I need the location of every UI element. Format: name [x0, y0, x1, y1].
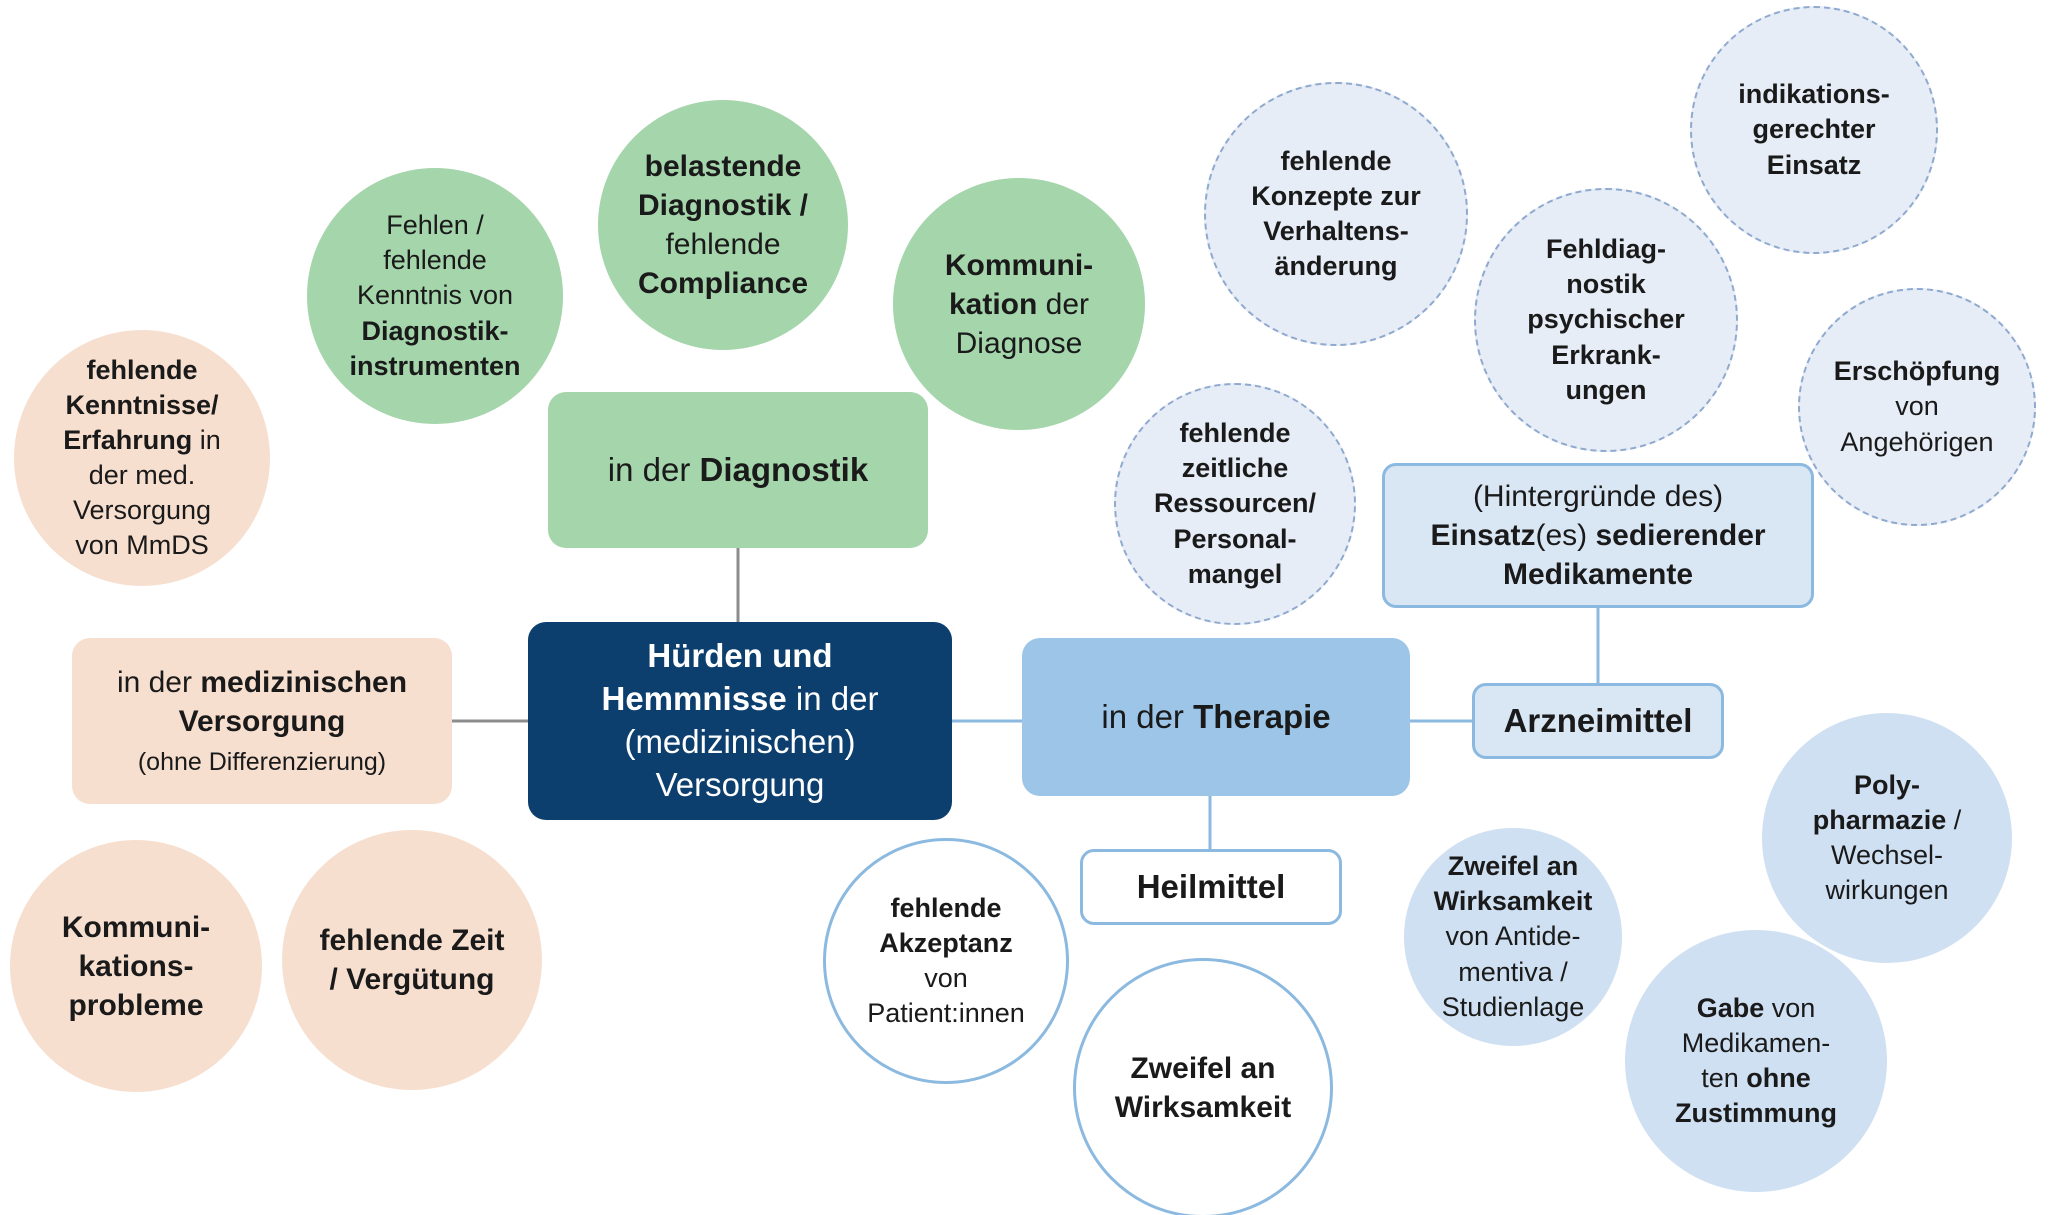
dashed4-line-2: Ressourcen/: [1154, 488, 1316, 518]
zeit-verguetung-line-0: fehlende Zeit: [319, 924, 504, 957]
diagnostik-bold: Diagnostik: [700, 451, 869, 488]
versorgung-prefix: in der: [117, 666, 200, 699]
green2-line-0: Kommuni-: [945, 249, 1093, 282]
blue2-line-0: Gabe: [1697, 993, 1765, 1023]
dashed2-line-4: ungen: [1566, 375, 1647, 405]
peach-line-2-suffix: in: [192, 425, 221, 455]
medbox-line-1: (Hintergründe des): [1473, 480, 1723, 513]
dashed0-line-2: Verhaltens-: [1263, 216, 1409, 246]
diagnostik-prefix: in der: [608, 451, 700, 488]
node-fehlende-akzeptanz-patientinnen[interactable]: fehlende Akzeptanz von Patient:innen: [823, 838, 1069, 1084]
core-line-4: Versorgung: [656, 766, 825, 803]
dashed2-line-0: Fehldiag-: [1546, 234, 1666, 264]
node-fehlende-zeit-verguetung[interactable]: fehlende Zeit / Vergütung: [282, 830, 542, 1090]
dashed3-line-1: von: [1895, 391, 1939, 421]
dashed2-line-3: Erkrank-: [1551, 340, 1661, 370]
blue2-line-0-suffix: von: [1764, 993, 1815, 1023]
blue1-line-0: Poly-: [1854, 770, 1920, 800]
node-fehldiagnostik-psychischer-erkrankungen[interactable]: Fehldiag- nostik psychischer Erkrank- un…: [1474, 188, 1738, 452]
node-fehlende-konzepte-verhaltensaenderung[interactable]: fehlende Konzepte zur Verhaltens- änderu…: [1204, 82, 1468, 346]
green2-line-1: kation: [949, 288, 1037, 321]
core-line-1: Hürden und: [647, 637, 832, 674]
green1-line-3: Compliance: [638, 267, 808, 300]
medbox-line-2-plain: (es): [1535, 519, 1587, 552]
node-kommunikationsprobleme[interactable]: Kommuni- kations- probleme: [10, 840, 262, 1092]
peach-line-5: von MmDS: [75, 530, 209, 560]
node-zweifel-wirksamkeit-antidementiva[interactable]: Zweifel an Wirksamkeit von Antide- menti…: [1404, 828, 1622, 1046]
dashed0-line-3: änderung: [1274, 251, 1397, 281]
kommunikationsprobleme-line-2: probleme: [68, 989, 203, 1022]
blue2-line-1: Medikamen-: [1682, 1028, 1831, 1058]
blue1-line-2: Wechsel-: [1831, 840, 1943, 870]
dashed4-line-4: mangel: [1188, 559, 1283, 589]
medbox-line-2-bold-b: sedierender: [1587, 519, 1765, 552]
branch-medizinische-versorgung[interactable]: in der medizinischen Versorgung (ohne Di…: [72, 638, 452, 804]
outline1-line-1: Wirksamkeit: [1115, 1091, 1291, 1124]
dashed4-line-3: Personal-: [1173, 524, 1296, 554]
medbox-line-3: Medikamente: [1503, 558, 1693, 591]
blue2-line-3: Zustimmung: [1675, 1098, 1837, 1128]
blue1-line-1: pharmazie: [1813, 805, 1947, 835]
node-gabe-medikamente-ohne-zustimmung[interactable]: Gabe von Medikamen- ten ohne Zustimmung: [1625, 930, 1887, 1192]
green2-line-1-suffix: der: [1037, 288, 1089, 321]
node-erschoepfung-von-angehoerigen[interactable]: Erschöpfung von Angehörigen: [1798, 288, 2036, 526]
node-arzneimittel[interactable]: Arzneimittel: [1472, 683, 1724, 759]
dashed1-line-0: indikations-: [1738, 79, 1890, 109]
kommunikationsprobleme-line-0: Kommuni-: [62, 911, 210, 944]
outline0-line-2: von: [924, 963, 968, 993]
dashed4-line-0: fehlende: [1179, 418, 1290, 448]
blue1-line-3: wirkungen: [1825, 875, 1948, 905]
node-zweifel-an-wirksamkeit[interactable]: Zweifel an Wirksamkeit: [1073, 958, 1333, 1215]
kommunikationsprobleme-line-1: kations-: [78, 950, 193, 983]
blue0-line-4: Studienlage: [1442, 992, 1585, 1022]
dashed0-line-0: fehlende: [1280, 146, 1391, 176]
dashed3-line-0: Erschöpfung: [1834, 356, 2001, 386]
green0-line-3: Diagnostik-: [361, 316, 508, 346]
core-line-2-rest: in der: [787, 680, 879, 717]
node-fehlen-kenntnis-diagnostikinstrumenten[interactable]: Fehlen / fehlende Kenntnis von Diagnosti…: [307, 168, 563, 424]
green0-line-2: Kenntnis von: [357, 280, 513, 310]
peach-line-3: der med.: [89, 460, 196, 490]
heilmittel-label: Heilmittel: [1137, 868, 1286, 905]
dashed2-line-2: psychischer: [1527, 304, 1685, 334]
mindmap-canvas: fehlende Kenntnisse/ Erfahrung in der me…: [0, 0, 2056, 1215]
dashed2-line-1: nostik: [1566, 269, 1646, 299]
green1-line-1: Diagnostik /: [638, 189, 808, 222]
blue0-line-0: Zweifel an: [1448, 851, 1579, 881]
outline0-line-1: Akzeptanz: [879, 928, 1013, 958]
blue0-line-1: Wirksamkeit: [1434, 886, 1593, 916]
node-heilmittel[interactable]: Heilmittel: [1080, 849, 1342, 925]
medbox-line-2-bold-a: Einsatz: [1430, 519, 1535, 552]
node-kommunikation-der-diagnose[interactable]: Kommuni- kation der Diagnose: [893, 178, 1145, 430]
node-hintergruende-sedierender-medikamente[interactable]: (Hintergründe des) Einsatz(es) sedierend…: [1382, 463, 1814, 608]
therapie-bold: Therapie: [1193, 698, 1331, 735]
dashed4-line-1: zeitliche: [1182, 453, 1289, 483]
peach-line-4: Versorgung: [73, 495, 211, 525]
versorgung-bold2: Versorgung: [179, 705, 346, 738]
node-polypharmazie-wechselwirkungen[interactable]: Poly- pharmazie / Wechsel- wirkungen: [1762, 713, 2012, 963]
node-belastende-diagnostik-compliance[interactable]: belastende Diagnostik / fehlende Complia…: [598, 100, 848, 350]
peach-line-0: fehlende: [86, 355, 197, 385]
outline1-line-0: Zweifel an: [1130, 1052, 1275, 1085]
node-fehlende-kenntnisse-erfahrung[interactable]: fehlende Kenntnisse/ Erfahrung in der me…: [14, 330, 270, 586]
node-fehlende-zeitliche-ressourcen[interactable]: fehlende zeitliche Ressourcen/ Personal-…: [1114, 383, 1356, 625]
dashed0-line-1: Konzepte zur: [1251, 181, 1421, 211]
outline0-line-0: fehlende: [890, 893, 1001, 923]
outline0-line-3: Patient:innen: [867, 998, 1025, 1028]
green0-line-1: fehlende: [383, 245, 487, 275]
blue0-line-3: mentiva /: [1458, 957, 1568, 987]
dashed1-line-1: gerechter: [1752, 114, 1875, 144]
blue2-line-2: ten ohne: [1701, 1063, 1811, 1093]
dashed1-line-2: Einsatz: [1767, 150, 1862, 180]
versorgung-note: (ohne Differenzierung): [138, 748, 386, 776]
green1-line-2: fehlende: [665, 228, 780, 261]
core-node[interactable]: Hürden und Hemmnisse in der (medizinisch…: [528, 622, 952, 820]
branch-therapie[interactable]: in der Therapie: [1022, 638, 1410, 796]
versorgung-bold: medizinischen: [200, 666, 407, 699]
green0-line-4: instrumenten: [349, 351, 520, 381]
green0-line-0: Fehlen /: [386, 210, 484, 240]
green1-line-0: belastende: [645, 150, 802, 183]
peach-line-1: Kenntnisse/: [65, 390, 218, 420]
dashed3-line-2: Angehörigen: [1840, 427, 1993, 457]
core-line-2-bold: Hemmnisse: [602, 680, 787, 717]
zeit-verguetung-line-1: / Vergütung: [330, 963, 495, 996]
branch-diagnostik[interactable]: in der Diagnostik: [548, 392, 928, 548]
peach-line-2: Erfahrung: [63, 425, 192, 455]
arzneimittel-label: Arzneimittel: [1504, 702, 1693, 739]
core-line-3: (medizinischen): [624, 723, 855, 760]
therapie-prefix: in der: [1101, 698, 1193, 735]
green2-line-2: Diagnose: [956, 327, 1083, 360]
node-indikationsgerechter-einsatz[interactable]: indikations- gerechter Einsatz: [1690, 6, 1938, 254]
blue0-line-2: von Antide-: [1445, 921, 1580, 951]
blue1-line-1-suffix: /: [1946, 805, 1961, 835]
blue2-line-2-bold: ohne: [1746, 1063, 1811, 1093]
